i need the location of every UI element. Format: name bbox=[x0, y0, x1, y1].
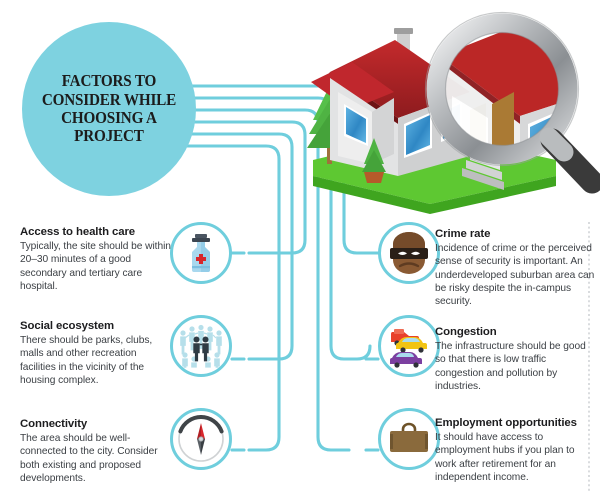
heading-social-ecosystem: Social ecosystem bbox=[20, 320, 172, 332]
text-block-connectivity: Connectivity The area should be well-con… bbox=[20, 418, 172, 485]
heading-congestion: Congestion bbox=[435, 326, 595, 338]
body-social-ecosystem: There should be parks, clubs, malls and … bbox=[20, 334, 172, 387]
heading-crime-rate: Crime rate bbox=[435, 228, 595, 240]
infographic-canvas: FACTORS TO CONSIDER WHILE CHOOSING A PRO… bbox=[0, 0, 600, 495]
text-block-employment-opportunities: Employment opportunities It should have … bbox=[435, 417, 595, 484]
icon-bubble-people-holding-hands[interactable] bbox=[170, 315, 232, 377]
body-crime-rate: Incidence of crime or the perceived sens… bbox=[435, 242, 595, 308]
text-block-crime-rate: Crime rate Incidence of crime or the per… bbox=[435, 228, 595, 308]
traffic-cars-icon bbox=[384, 322, 434, 370]
icon-bubble-medicine-bottle[interactable] bbox=[170, 222, 232, 284]
text-block-congestion: Congestion The infrastructure should be … bbox=[435, 326, 595, 393]
body-access-to-health-care: Typically, the site should be within 20–… bbox=[20, 240, 172, 293]
compass-icon bbox=[177, 415, 225, 463]
icon-bubble-briefcase[interactable] bbox=[378, 408, 440, 470]
masked-burglar-icon bbox=[387, 230, 431, 276]
heading-connectivity: Connectivity bbox=[20, 418, 172, 430]
text-block-social-ecosystem: Social ecosystem There should be parks, … bbox=[20, 320, 172, 387]
heading-access-to-health-care: Access to health care bbox=[20, 226, 172, 238]
people-holding-hands-icon bbox=[178, 324, 224, 368]
briefcase-icon bbox=[388, 422, 430, 456]
icon-bubble-masked-burglar[interactable] bbox=[378, 222, 440, 284]
icon-bubble-compass[interactable] bbox=[170, 408, 232, 470]
text-block-access-to-health-care: Access to health care Typically, the sit… bbox=[20, 226, 172, 293]
page-title: FACTORS TO CONSIDER WHILE CHOOSING A PRO… bbox=[36, 72, 181, 146]
medicine-bottle-icon bbox=[184, 233, 218, 273]
hero-circle: FACTORS TO CONSIDER WHILE CHOOSING A PRO… bbox=[22, 22, 196, 196]
heading-employment-opportunities: Employment opportunities bbox=[435, 417, 595, 429]
body-congestion: The infrastructure should be good so tha… bbox=[435, 340, 595, 393]
body-employment-opportunities: It should have access to employment hubs… bbox=[435, 431, 595, 484]
car-purple bbox=[390, 352, 422, 368]
body-connectivity: The area should be well-connected to the… bbox=[20, 432, 172, 485]
icon-bubble-traffic-cars[interactable] bbox=[378, 315, 440, 377]
